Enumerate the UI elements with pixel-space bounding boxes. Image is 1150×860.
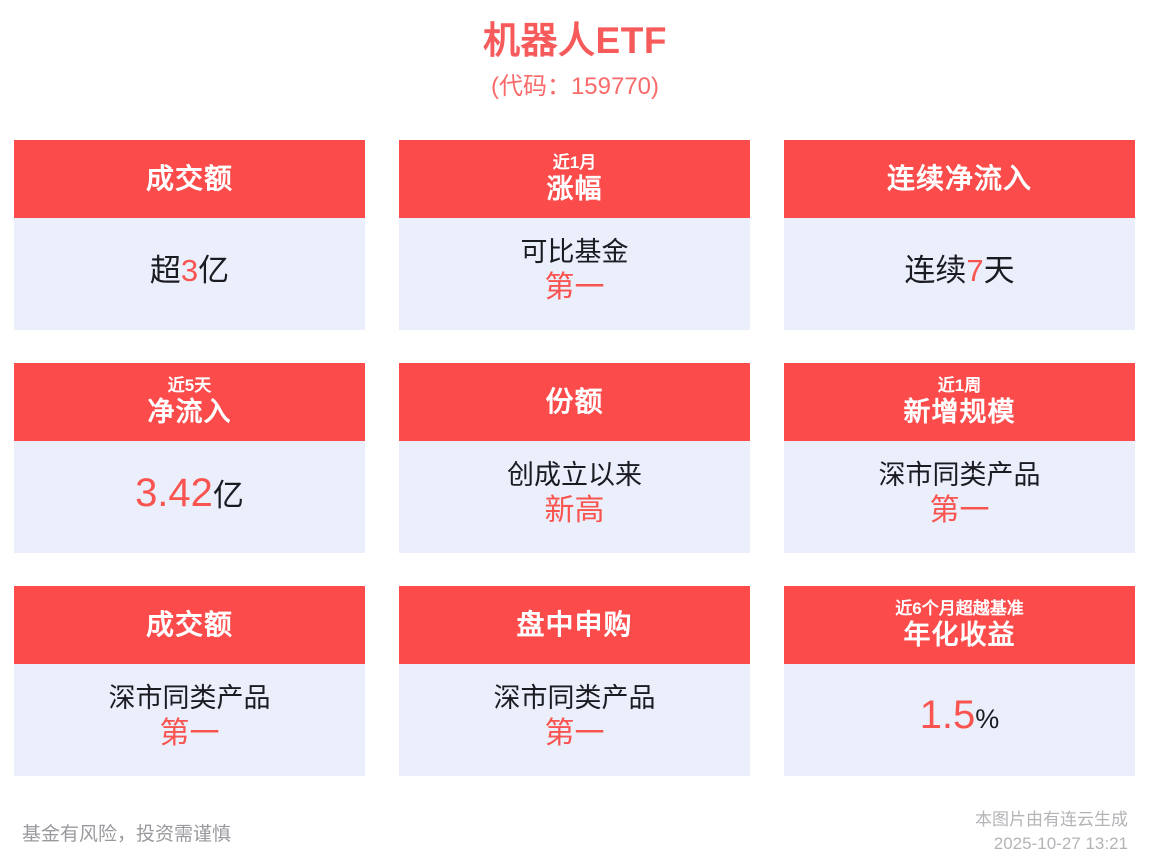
stat-card-sub-label: 近1月: [553, 152, 596, 173]
stat-card-body: 深市同类产品第一: [784, 441, 1135, 553]
stat-card-value-part: 3.42: [135, 471, 213, 515]
footer-disclaimer: 基金有风险，投资需谨慎: [22, 822, 231, 848]
stat-card-value-part: 超: [150, 253, 181, 288]
stat-card-main-label: 涨幅: [547, 173, 603, 206]
stat-card-sub-label: 近6个月超越基准: [895, 598, 1023, 619]
stat-card-body: 创成立以来新高: [399, 441, 750, 553]
stat-card-value-part: 亿: [213, 478, 244, 513]
footer: 基金有风险，投资需谨慎 本图片由有连云生成 2025-10-27 13:21: [0, 802, 1150, 860]
stat-card-header: 近1周新增规模: [784, 363, 1135, 441]
stat-card-body-value: 1.5%: [920, 695, 1000, 739]
stat-card-grid: 成交额超3亿近1月涨幅可比基金第一连续净流入连续7天近5天净流入3.42亿份额创…: [14, 140, 1136, 776]
stat-card-body: 连续7天: [784, 218, 1135, 330]
stat-card[interactable]: 份额创成立以来新高: [399, 363, 750, 553]
stat-card-main-label: 成交额: [146, 162, 233, 196]
stat-card[interactable]: 盘中申购深市同类产品第一: [399, 586, 750, 776]
stat-card-sub-label: 近5天: [168, 375, 211, 396]
stat-card-header: 份额: [399, 363, 750, 441]
stat-card-value-part: 3: [181, 253, 198, 288]
stat-card-body-line-2: 第一: [160, 715, 220, 753]
stat-card-header: 连续净流入: [784, 140, 1135, 218]
stat-card-body-line-1: 深市同类产品: [879, 458, 1041, 492]
stat-card-body-value: 超3亿: [150, 251, 229, 291]
stat-card-main-label: 份额: [545, 385, 603, 419]
stat-card-body-line-2: 第一: [545, 715, 605, 753]
stat-card-main-label: 盘中申购: [516, 608, 632, 642]
stat-card-body: 可比基金第一: [399, 218, 750, 330]
stat-card-main-label: 年化收益: [904, 619, 1016, 652]
stat-card-value-part: %: [975, 704, 999, 734]
footer-credit-timestamp: 2025-10-27 13:21: [975, 832, 1128, 856]
footer-credit: 本图片由有连云生成 2025-10-27 13:21: [975, 808, 1128, 856]
stat-card[interactable]: 成交额深市同类产品第一: [14, 586, 365, 776]
stat-card-main-label: 成交额: [146, 608, 233, 642]
stat-card[interactable]: 近1月涨幅可比基金第一: [399, 140, 750, 330]
stat-card-header: 盘中申购: [399, 586, 750, 664]
stat-card-body: 深市同类产品第一: [399, 664, 750, 776]
footer-credit-source: 本图片由有连云生成: [975, 808, 1128, 832]
stat-card-value-part: 1.5: [920, 693, 976, 737]
stat-card[interactable]: 成交额超3亿: [14, 140, 365, 330]
stat-card-body-line-1: 深市同类产品: [109, 681, 271, 715]
stat-card-body-line-1: 深市同类产品: [494, 681, 656, 715]
stat-card-value-part: 连续: [904, 253, 966, 288]
stat-card[interactable]: 近1周新增规模深市同类产品第一: [784, 363, 1135, 553]
stat-card-body-line-1: 可比基金: [521, 235, 629, 269]
stat-card-body-value: 3.42亿: [135, 473, 244, 516]
stat-card[interactable]: 近6个月超越基准年化收益1.5%: [784, 586, 1135, 776]
stat-card-body-value: 连续7天: [904, 251, 1014, 291]
stat-card-body: 深市同类产品第一: [14, 664, 365, 776]
stat-card-sub-label: 近1周: [938, 375, 981, 396]
stat-card-main-label: 连续净流入: [887, 162, 1032, 196]
page-title: 机器人ETF: [0, 18, 1150, 64]
stat-card-main-label: 净流入: [148, 396, 232, 429]
page-header: 机器人ETF (代码：159770): [0, 0, 1150, 104]
stat-card-body-line-2: 第一: [545, 269, 605, 307]
stat-card-header: 近5天净流入: [14, 363, 365, 441]
stat-card-body: 1.5%: [784, 664, 1135, 776]
stat-card-body-line-2: 新高: [545, 492, 605, 530]
stat-card[interactable]: 近5天净流入3.42亿: [14, 363, 365, 553]
stat-card-body: 3.42亿: [14, 441, 365, 553]
stat-card-header: 成交额: [14, 586, 365, 664]
stat-card-header: 近6个月超越基准年化收益: [784, 586, 1135, 664]
stat-card-header: 近1月涨幅: [399, 140, 750, 218]
stat-card-body-line-2: 第一: [930, 492, 990, 530]
stat-card-header: 成交额: [14, 140, 365, 218]
stat-card-value-part: 7: [966, 253, 983, 288]
stat-card-body: 超3亿: [14, 218, 365, 330]
stat-card-body-line-1: 创成立以来: [507, 458, 642, 492]
stat-card[interactable]: 连续净流入连续7天: [784, 140, 1135, 330]
stat-card-value-part: 天: [984, 253, 1015, 288]
stat-card-value-part: 亿: [198, 253, 229, 288]
page-subtitle-code: (代码：159770): [0, 70, 1150, 104]
stat-card-main-label: 新增规模: [904, 396, 1016, 429]
